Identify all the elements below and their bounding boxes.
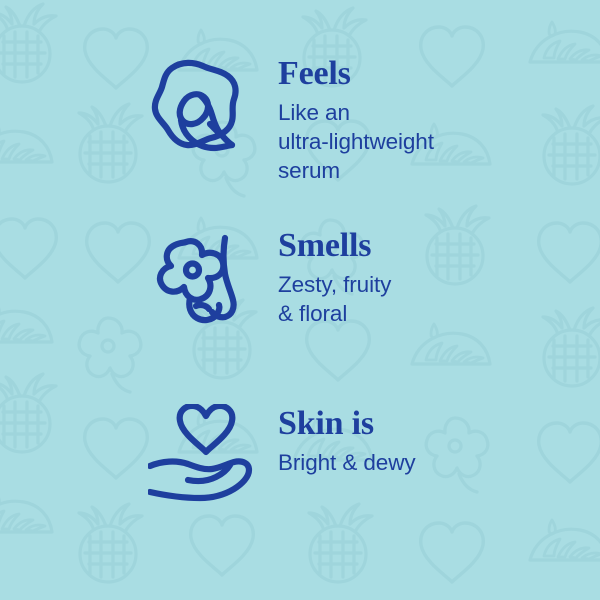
benefit-text-skin-is: Skin is Bright & dewy: [260, 396, 600, 477]
benefit-item-skin-is: Skin is Bright & dewy: [148, 396, 600, 566]
benefit-title-smells: Smells: [278, 228, 600, 264]
flower-and-nose-icon: [148, 222, 260, 336]
heart-shape: [180, 406, 233, 452]
finger-touching-texture-icon: [148, 46, 260, 164]
benefit-item-feels: Feels Like an ultra-lightweight serum: [148, 46, 600, 216]
hand-holding-heart-icon: [148, 396, 260, 504]
benefit-item-smells: Smells Zesty, fruity & floral: [148, 222, 600, 392]
benefit-body-skin-is: Bright & dewy: [278, 448, 600, 477]
benefit-body-smells: Zesty, fruity & floral: [278, 270, 600, 328]
benefit-title-feels: Feels: [278, 56, 600, 92]
benefit-list: Feels Like an ultra-lightweight serum: [0, 0, 600, 600]
benefit-text-smells: Smells Zesty, fruity & floral: [260, 222, 600, 328]
benefit-text-feels: Feels Like an ultra-lightweight serum: [260, 46, 600, 185]
benefit-body-feels: Like an ultra-lightweight serum: [278, 98, 600, 185]
benefit-title-skin-is: Skin is: [278, 406, 600, 442]
benefits-card: Feels Like an ultra-lightweight serum: [0, 0, 600, 600]
